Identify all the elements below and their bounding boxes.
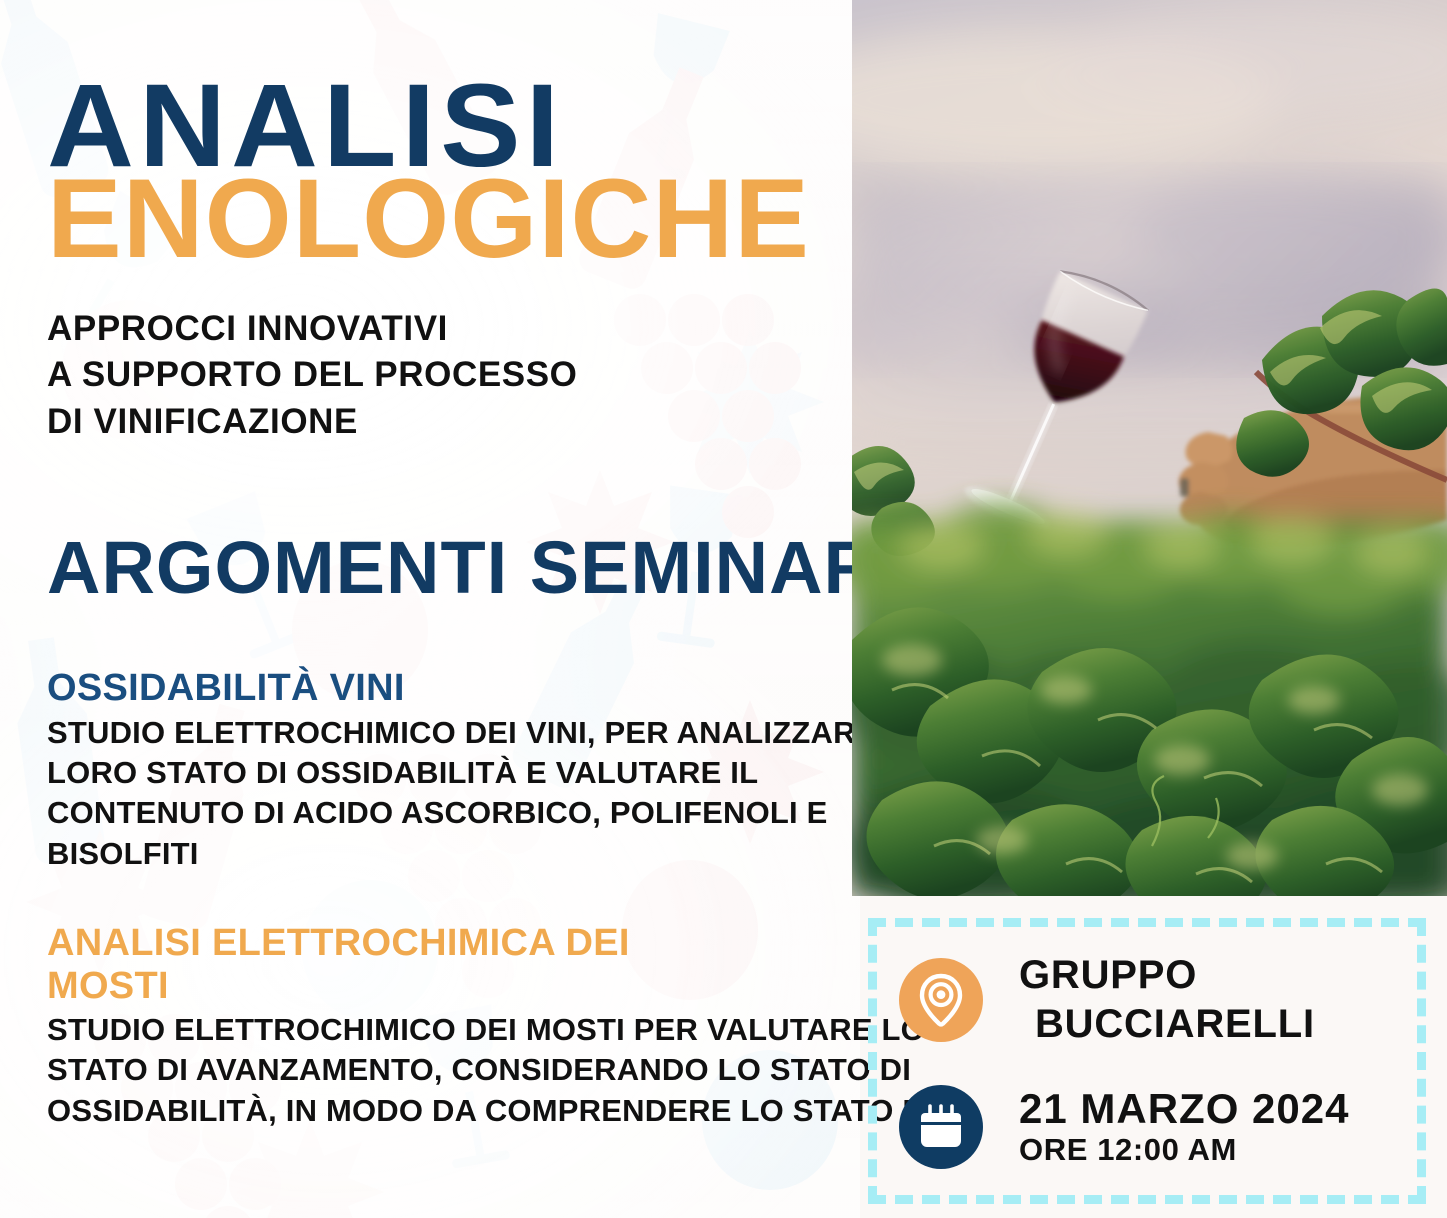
event-date: 21 MARZO 2024: [1019, 1086, 1349, 1132]
topic-analisi-elettrochimica-mosti: ANALISI ELETTROCHIMICA DEI MOSTI STUDIO …: [47, 922, 837, 1131]
topic-2-title-line-2: MOSTI: [47, 965, 837, 1008]
topic-ossidabilita-vini: OSSIDABILITÀ VINI STUDIO ELETTROCHIMICO …: [47, 667, 837, 874]
topic-1-body: STUDIO ELETTROCHIMICO DEI VINI, PER ANAL…: [47, 713, 837, 874]
topic-1-body-line-3: CONTENUTO DI ACIDO ASCORBICO, POLIFENOLI…: [47, 793, 837, 833]
tagline: APPROCCI INNOVATIVI A SUPPORTO DEL PROCE…: [47, 306, 837, 446]
calendar-icon: [899, 1085, 983, 1169]
venue-line-2: BUCCIARELLI: [1019, 1000, 1315, 1049]
date-text: 21 MARZO 2024 ORE 12:00 AM: [1019, 1086, 1349, 1169]
tagline-line-2: A SUPPORTO DEL PROCESSO: [47, 352, 837, 399]
left-content-column: ANALISI ENOLOGICHE APPROCCI INNOVATIVI A…: [47, 0, 837, 1131]
topic-1-body-line-2: LORO STATO DI OSSIDABILITÀ E VALUTARE IL: [47, 753, 837, 793]
venue-line-1: GRUPPO: [1019, 951, 1315, 1000]
event-info-box: GRUPPO BUCCIARELLI 21 MARZO 2024 ORE 12:…: [868, 918, 1426, 1204]
poster-canvas: ANALISI ENOLOGICHE APPROCCI INNOVATIVI A…: [0, 0, 1447, 1218]
info-row-date: 21 MARZO 2024 ORE 12:00 AM: [899, 1085, 1349, 1169]
topic-2-title-line-1: ANALISI ELETTROCHIMICA DEI: [47, 922, 837, 965]
topic-2-body-line-2: STATO DI AVANZAMENTO, CONSIDERANDO LO ST…: [47, 1050, 837, 1090]
event-time: ORE 12:00 AM: [1019, 1132, 1349, 1169]
page-title-line2: ENOLOGICHE: [47, 167, 837, 270]
vineyard-wine-glass-photo: [852, 0, 1447, 896]
topic-2-body: STUDIO ELETTROCHIMICO DEI MOSTI PER VALU…: [47, 1010, 837, 1131]
venue-text: GRUPPO BUCCIARELLI: [1019, 951, 1315, 1049]
tagline-line-3: DI VINIFICAZIONE: [47, 399, 837, 446]
topic-2-body-line-1: STUDIO ELETTROCHIMICO DEI MOSTI PER VALU…: [47, 1010, 837, 1050]
info-row-location: GRUPPO BUCCIARELLI: [899, 951, 1315, 1049]
tagline-line-1: APPROCCI INNOVATIVI: [47, 306, 837, 353]
topic-2-body-line-3: OSSIDABILITÀ, IN MODO DA COMPRENDERE LO …: [47, 1091, 837, 1131]
topic-1-title: OSSIDABILITÀ VINI: [47, 667, 837, 710]
topic-1-body-line-4: BISOLFITI: [47, 834, 837, 874]
map-pin-icon: [899, 958, 983, 1042]
section-heading: ARGOMENTI SEMINARIO: [47, 531, 837, 605]
topic-1-body-line-1: STUDIO ELETTROCHIMICO DEI VINI, PER ANAL…: [47, 713, 837, 753]
